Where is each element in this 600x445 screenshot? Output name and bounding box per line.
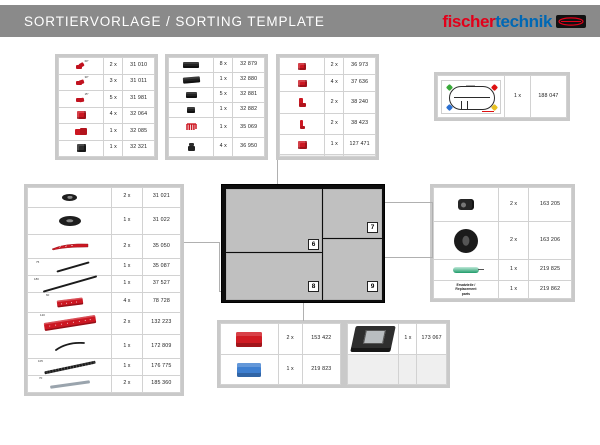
qty-cell: 2 x <box>325 113 344 135</box>
part-number-cell: 37 636 <box>344 75 376 92</box>
table-row: 4 x 32 064 <box>59 107 155 124</box>
part-number-cell: 32 879 <box>233 58 265 73</box>
qty-cell: 1 x <box>498 260 528 281</box>
qty-cell: 1 x <box>214 118 233 137</box>
black-rack-105-icon <box>44 360 95 374</box>
qty-cell: 2 x <box>498 188 528 222</box>
qty-cell: 2 x <box>112 312 143 334</box>
part-number-cell: 32 085 <box>123 124 155 141</box>
table-row: 1 x 32 085 <box>59 124 155 141</box>
length-label: 70 <box>39 377 42 380</box>
part-number-cell: 31 022 <box>142 207 180 234</box>
black-ring-small-icon <box>62 194 77 201</box>
table-row: 2 x 163 206 <box>434 222 572 260</box>
table-row: 1 x 31 022 <box>28 207 181 234</box>
compartment-8-number: 8 <box>308 281 319 292</box>
top-middle-parts-table: 8 x 32 879 1 x 32 880 5 x 32 881 1 x 32 … <box>165 54 268 160</box>
leader-line-right-a <box>385 202 433 203</box>
red-beam-60-icon <box>56 297 83 307</box>
black-connector-icon <box>188 143 195 151</box>
part-number-cell: 153 422 <box>302 324 340 355</box>
length-label: 180 <box>34 278 39 281</box>
table-row: 2 x 38 240 <box>280 92 376 114</box>
part-number-cell: 36 950 <box>233 137 265 156</box>
qty-cell: 2 x <box>278 324 302 355</box>
table-row: 2 x 153 422 <box>221 324 341 355</box>
sorting-tray[interactable]: 6 7 8 9 <box>221 184 385 303</box>
table-row: 1 x 173 067 <box>348 324 447 355</box>
part-number-cell: 163 206 <box>529 222 572 260</box>
red-hook-icon <box>299 120 305 129</box>
red-crate-icon <box>236 332 262 347</box>
part-number-cell: 37 527 <box>142 276 180 293</box>
qty-cell: 2 x <box>112 234 143 259</box>
table-row: 60° 2 x 31 010 <box>59 58 155 75</box>
table-row: 1 x 127 471 <box>280 135 376 154</box>
red-cube-icon <box>298 141 307 149</box>
red-clip-icon <box>186 123 197 131</box>
qty-cell: 1 x <box>325 135 344 154</box>
qty-cell: 1 x <box>112 334 143 359</box>
fischer-badge-icon <box>556 15 586 28</box>
angle-block-30deg-icon: 30° <box>75 78 88 86</box>
part-number-cell: 32 882 <box>233 103 265 118</box>
left-parts-table: 2 x 31 021 1 x 31 022 2 x <box>24 184 184 396</box>
leader-line-top <box>277 160 278 184</box>
part-number-cell: 32 881 <box>233 88 265 103</box>
table-row: 2 x 163 205 <box>434 188 572 222</box>
qty-cell: 2 x <box>325 92 344 114</box>
length-label: 60 <box>46 294 49 297</box>
qty-cell: 8 x <box>214 58 233 73</box>
qty-cell: 1 x <box>498 281 528 299</box>
qty-cell: 4 x <box>325 75 344 92</box>
part-number-cell: 35 069 <box>233 118 265 137</box>
fischertechnik-logo: fischertechnik <box>442 13 586 30</box>
wheel-hub-icon <box>458 199 474 210</box>
table-row: 15° 5 x 31 981 <box>59 91 155 108</box>
qty-cell: 2 x <box>112 188 143 208</box>
part-number-cell: 188 047 <box>530 76 566 118</box>
qty-cell: 1 x <box>112 207 143 234</box>
black-building-block-icon <box>77 144 86 152</box>
leader-line-right-b <box>432 202 433 257</box>
bottom-left-parts-table: 2 x 153 422 1 x 219 823 <box>217 320 344 388</box>
qty-cell: 2 x <box>498 222 528 260</box>
compartment-9-number: 9 <box>367 281 378 292</box>
sorting-template-page: SORTIERVORLAGE / SORTING TEMPLATE fische… <box>0 0 600 445</box>
part-number-cell: 31 021 <box>142 188 180 208</box>
qty-cell: 1 x <box>214 103 233 118</box>
track-board-icon <box>441 80 501 114</box>
leader-line-bottom <box>303 303 304 321</box>
table-row: 75 1 x 35 087 <box>28 259 181 276</box>
part-number-cell: 127 471 <box>344 135 376 154</box>
table-row: 30° 3 x 31 011 <box>59 74 155 91</box>
part-number-cell: 38 423 <box>344 113 376 135</box>
table-row: 4 x 37 636 <box>280 75 376 92</box>
qty-cell: 3 x <box>104 74 123 91</box>
part-number-cell: 32 880 <box>233 73 265 88</box>
grey-rod-70-icon <box>50 380 90 388</box>
part-number-cell: 31 011 <box>123 74 155 91</box>
black-block-small-icon <box>187 107 195 113</box>
qty-cell: 4 x <box>112 292 143 312</box>
table-row: 2 x 31 021 <box>28 188 181 208</box>
leader-line-left-b <box>219 242 220 292</box>
part-number-cell: 173 067 <box>417 324 447 355</box>
table-row: 1 x 32 321 <box>59 140 155 157</box>
part-number-cell: 32 064 <box>123 107 155 124</box>
logo-technik-text: technik <box>495 12 552 31</box>
part-number-cell: 163 205 <box>529 188 572 222</box>
replacement-parts-label: Ersatzteile / Replacement parts <box>434 281 499 299</box>
compartment-7-number: 7 <box>367 222 378 233</box>
part-number-cell: 176 775 <box>142 359 180 376</box>
qty-cell: 1 x <box>112 359 143 376</box>
table-row: 105 1 x 176 775 <box>28 359 181 376</box>
black-curved-rail-icon <box>55 342 85 351</box>
qty-cell: 1 x <box>399 324 417 355</box>
table-row: 1 x 219 823 <box>221 355 341 385</box>
table-row: Ersatzteile / Replacement parts 1 x 219 … <box>434 281 572 299</box>
black-tyre-disc-icon <box>59 216 81 226</box>
top-left-parts-table: 60° 2 x 31 010 30° 3 x 31 011 <box>55 54 158 160</box>
table-row: 4 x 36 950 <box>169 137 265 156</box>
table-row: 2 x 38 423 <box>280 113 376 135</box>
part-number-cell: 219 823 <box>302 355 340 385</box>
part-number-cell: 32 321 <box>123 140 155 157</box>
part-number-cell: 35 087 <box>142 259 180 276</box>
compartment-8[interactable] <box>226 253 322 300</box>
qty-cell: 5 x <box>214 88 233 103</box>
leader-line-right-c <box>385 257 433 258</box>
qty-cell: 2 x <box>325 58 344 75</box>
black-rod-75-icon <box>56 262 89 273</box>
qty-cell: 1 x <box>214 73 233 88</box>
part-number-cell: 31 010 <box>123 58 155 75</box>
table-row: 2 x 36 973 <box>280 58 376 75</box>
bottom-right-parts-table: 1 x 173 067 <box>344 320 450 388</box>
qty-cell: 5 x <box>104 91 123 108</box>
table-row: 2 x 35 050 <box>28 234 181 259</box>
length-label: 120 <box>40 314 45 317</box>
table-row: 1 x 172 809 <box>28 334 181 359</box>
table-row: 1 x 219 825 <box>434 260 572 281</box>
length-label: 75 <box>36 261 39 264</box>
page-title: SORTIERVORLAGE / SORTING TEMPLATE <box>24 14 325 29</box>
part-number-cell: 219 825 <box>529 260 572 281</box>
qty-cell: 1 x <box>104 124 123 141</box>
top-right-parts-table: 2 x 36 973 4 x 37 636 2 x 38 240 <box>276 54 379 160</box>
grease-syringe-icon <box>453 267 479 273</box>
qty-cell: 1 x <box>112 276 143 293</box>
black-beam-long-icon <box>183 62 199 68</box>
red-block-a-icon <box>298 63 306 70</box>
page-header: SORTIERVORLAGE / SORTING TEMPLATE fische… <box>0 5 600 37</box>
table-row-blank <box>280 154 376 156</box>
table-row: 1 x 35 069 <box>169 118 265 137</box>
black-beam-short-icon <box>186 92 197 98</box>
qty-cell: 2 x <box>104 58 123 75</box>
table-row: 60 4 x 78 728 <box>28 292 181 312</box>
part-number-cell: 31 981 <box>123 91 155 108</box>
qty-cell: 1 x <box>112 259 143 276</box>
qty-cell: 4 x <box>214 137 233 156</box>
compartment-6-number: 6 <box>308 239 319 250</box>
part-number-cell: 132 223 <box>142 312 180 334</box>
length-label: 105 <box>38 360 43 363</box>
logo-fischer-text: fischer <box>442 12 495 31</box>
blue-crate-icon <box>237 363 261 377</box>
part-number-cell: 35 050 <box>142 234 180 259</box>
qty-cell: 1 x <box>278 355 302 385</box>
table-row: 120 2 x 132 223 <box>28 312 181 334</box>
angle-block-15deg-icon: 15° <box>75 95 88 103</box>
table-row: 5 x 32 881 <box>169 88 265 103</box>
part-number-cell: 78 728 <box>142 292 180 312</box>
part-number-cell: 172 809 <box>142 334 180 359</box>
red-angle-bracket-icon <box>299 98 306 107</box>
qty-cell: 4 x <box>104 107 123 124</box>
red-beam-120-icon <box>43 315 96 331</box>
table-row: 8 x 32 879 <box>169 58 265 73</box>
part-number-cell: 36 973 <box>344 58 376 75</box>
black-beam-long-2-icon <box>182 76 199 83</box>
table-row-blank <box>348 354 447 385</box>
qty-cell: 1 x <box>104 140 123 157</box>
qty-cell: 1 x <box>505 76 531 118</box>
red-block-b-icon <box>298 80 307 87</box>
table-row: 1 x 32 882 <box>169 103 265 118</box>
black-rod-180-icon <box>42 275 96 292</box>
red-block-cluster-icon <box>75 128 88 136</box>
leader-line-left-a <box>184 242 220 243</box>
part-number-cell: 219 862 <box>529 281 572 299</box>
red-curved-panel-icon <box>51 242 89 251</box>
table-row: 70 2 x 185 360 <box>28 376 181 393</box>
angle-block-60deg-icon: 60° <box>75 62 88 70</box>
controller-unit-icon <box>350 326 396 352</box>
right-parts-table: 2 x 163 205 2 x 163 206 1 x 219 825 Ersa… <box>430 184 575 302</box>
red-building-block-icon <box>77 111 86 119</box>
part-number-cell: 38 240 <box>344 92 376 114</box>
table-row: 1 x 32 880 <box>169 73 265 88</box>
tyre-icon <box>454 229 478 253</box>
table-row: 1 x 188 047 <box>438 76 567 118</box>
qty-cell: 2 x <box>112 376 143 393</box>
top-far-right-parts-table: 1 x 188 047 <box>434 72 570 121</box>
table-row: 180 1 x 37 527 <box>28 276 181 293</box>
part-number-cell: 185 360 <box>142 376 180 393</box>
